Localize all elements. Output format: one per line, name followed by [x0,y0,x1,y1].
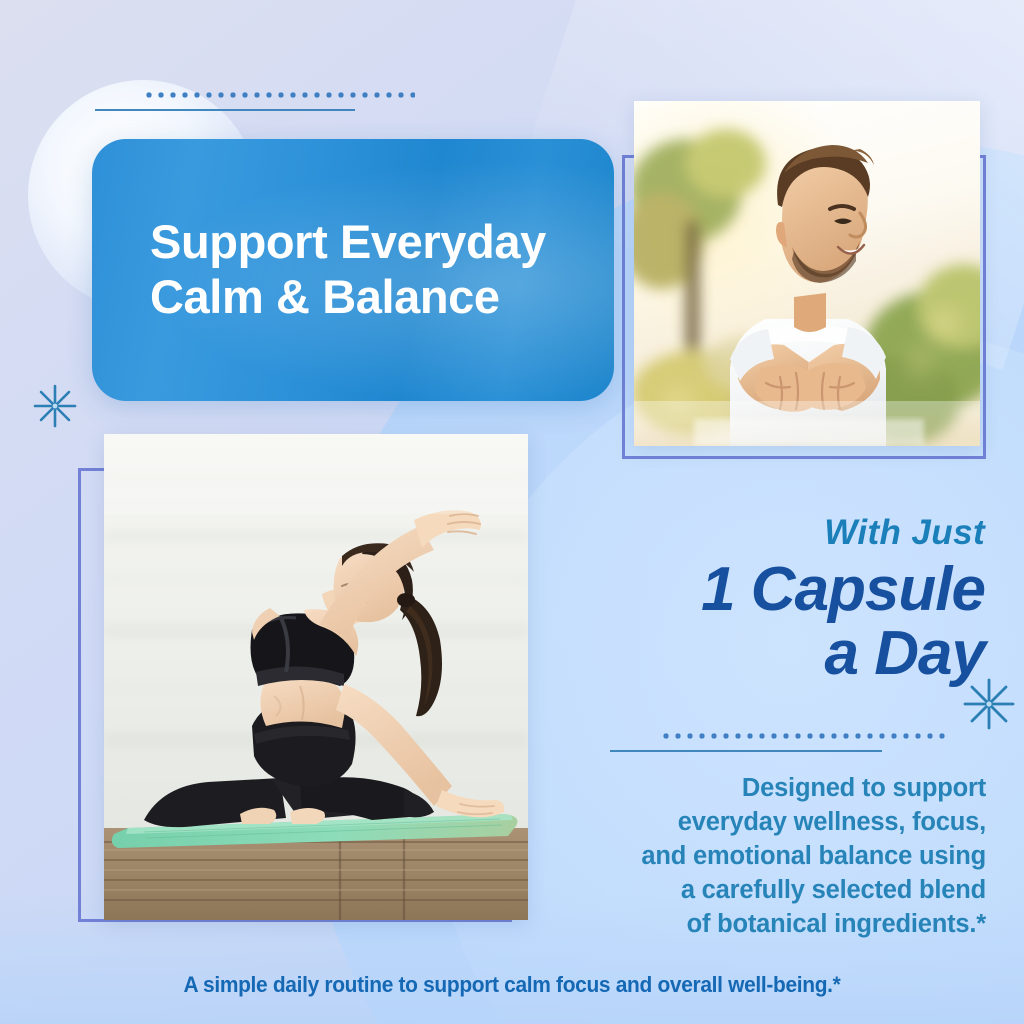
dotted-line-icon [143,92,415,98]
footer-tagline: A simple daily routine to support calm f… [36,972,988,998]
promo-headline: 1 Capsule a Day [545,558,985,687]
promo-eyebrow: With Just [545,515,985,550]
woman-yoga-stretch-photo [104,434,528,920]
dotted-line-icon [660,733,950,739]
solid-line-icon [95,109,355,111]
solid-line-icon [610,750,882,752]
promo-text-block: With Just 1 Capsule a Day [545,515,985,687]
promo-body-text: Designed to support everyday wellness, f… [540,772,986,942]
headline-text: Support Everyday Calm & Balance [92,215,556,325]
man-stretching-outdoors-photo [634,101,980,446]
headline-banner: Support Everyday Calm & Balance [92,139,614,401]
sparkle-icon [32,383,78,434]
